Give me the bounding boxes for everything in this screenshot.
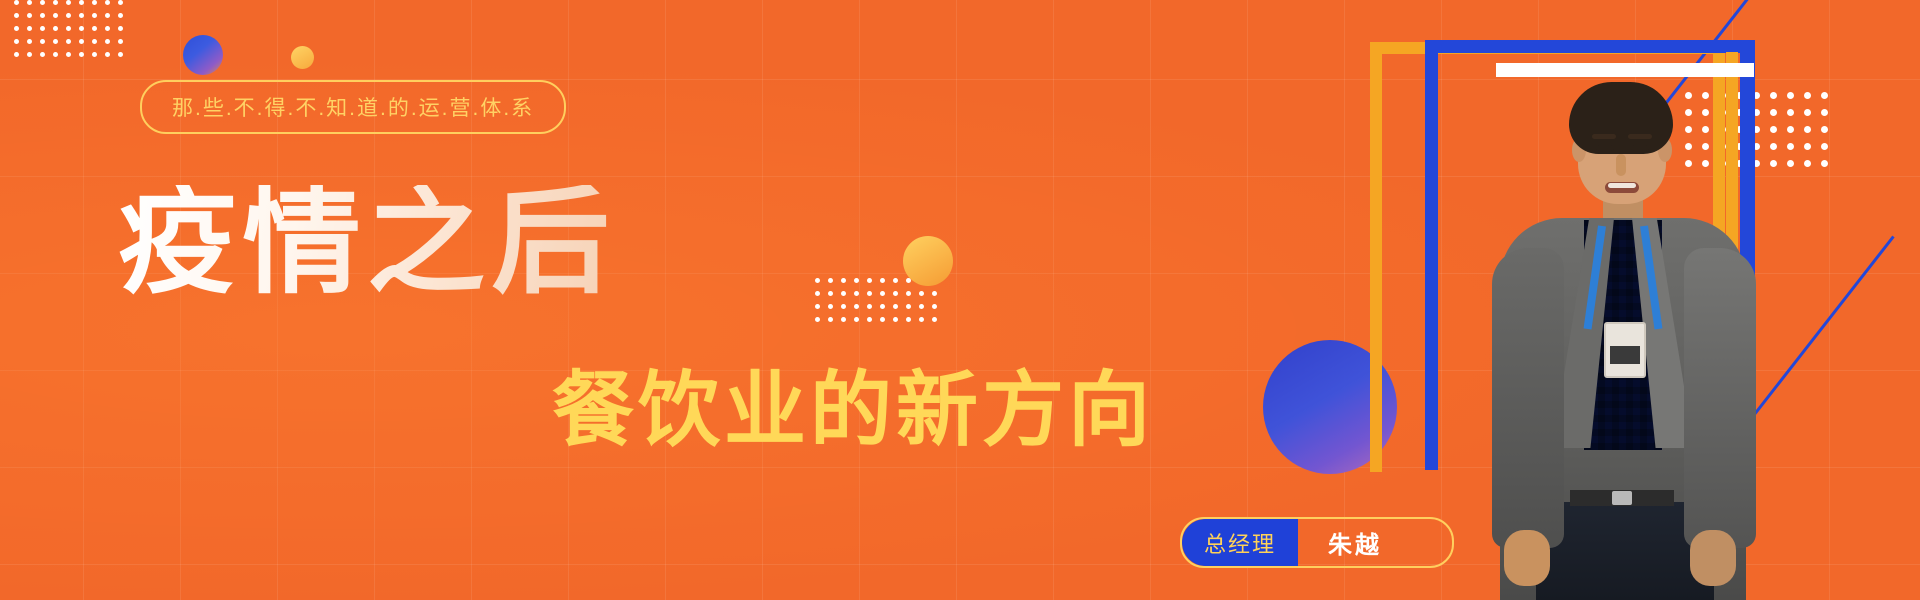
- speaker-badge: 总经理 朱越: [1180, 517, 1454, 568]
- speaker-name: 朱越: [1298, 519, 1412, 566]
- photo-teeth: [1608, 183, 1636, 188]
- photo-zone: [1360, 0, 1920, 600]
- promo-banner: 那.些.不.得.不.知.道.的.运.营.体.系 疫情之后 餐饮业的新方向 总经理…: [0, 0, 1920, 600]
- sphere-yellow-small-icon: [291, 46, 314, 69]
- headline-line-2: 餐饮业的新方向: [552, 370, 1154, 452]
- photo-hair: [1569, 82, 1673, 154]
- photo-eyebrow-right: [1628, 134, 1652, 139]
- sphere-blue-small-icon: [183, 35, 223, 75]
- photo-eye-left: [1596, 145, 1614, 151]
- subtitle-pill: 那.些.不.得.不.知.道.的.运.营.体.系: [140, 80, 566, 134]
- photo-nose: [1616, 154, 1626, 176]
- subtitle-text: 那.些.不.得.不.知.道.的.运.营.体.系: [172, 92, 534, 122]
- sphere-yellow-medium-icon: [903, 236, 953, 286]
- speaker-role: 总经理: [1182, 519, 1298, 566]
- headline-line-1: 疫情之后: [118, 185, 616, 301]
- photo-arm-right: [1684, 248, 1756, 548]
- photo-eye-right: [1631, 145, 1649, 151]
- photo-id-card: [1604, 322, 1646, 378]
- photo-bottom-fade: [1474, 530, 1774, 600]
- speaker-photo: [1474, 60, 1774, 600]
- photo-eyebrow-left: [1592, 134, 1616, 139]
- photo-belt-buckle: [1612, 491, 1632, 505]
- photo-arm-left: [1492, 248, 1564, 548]
